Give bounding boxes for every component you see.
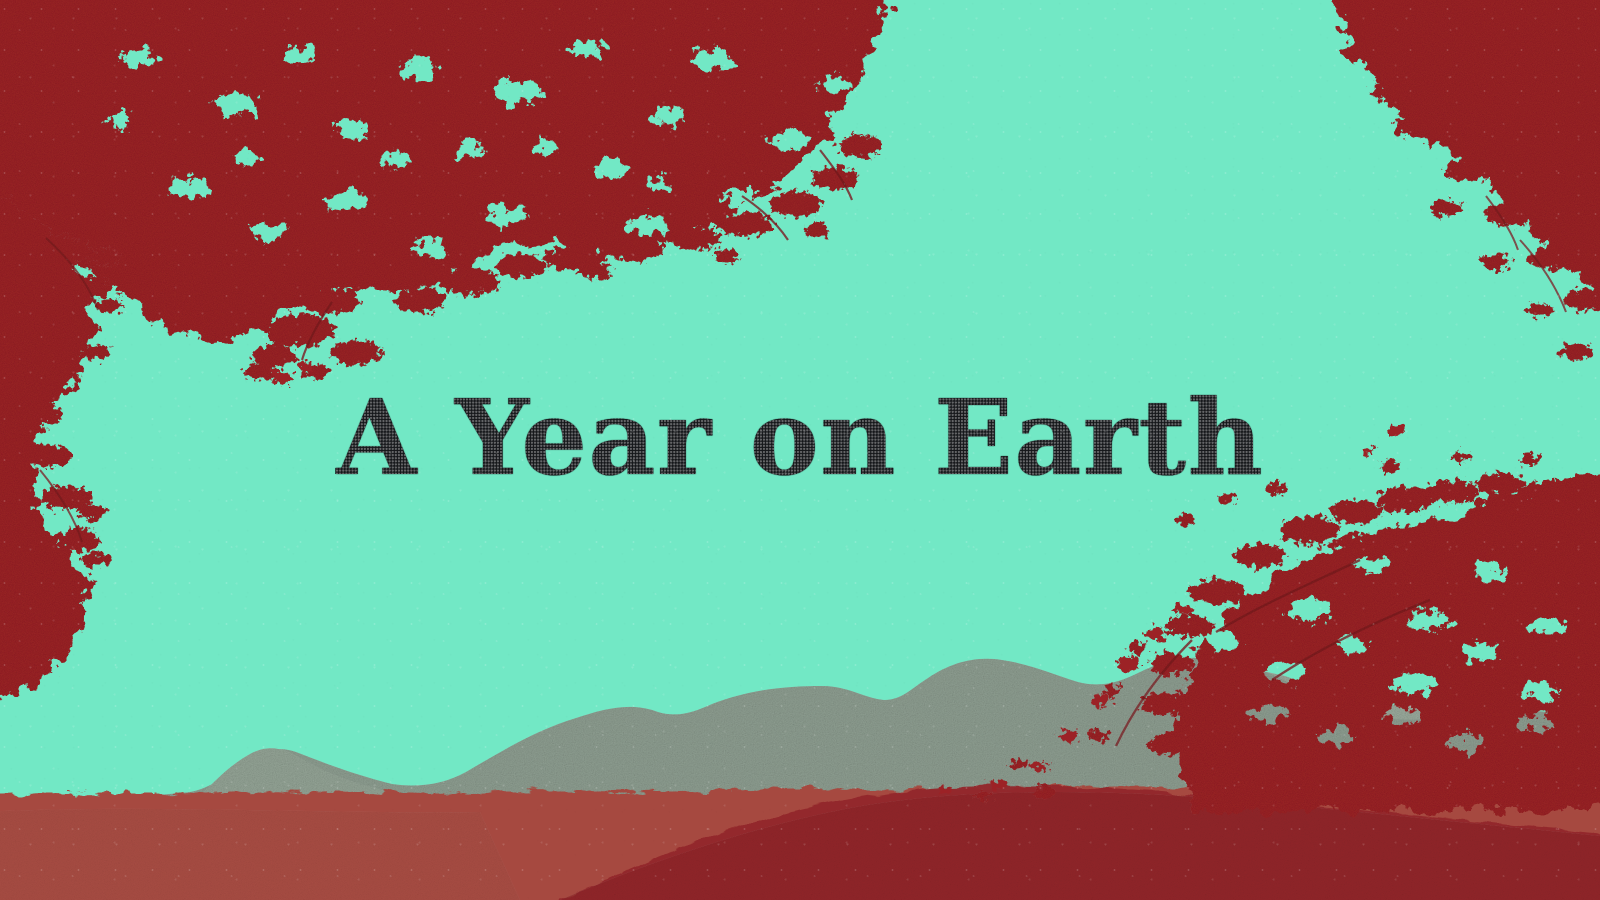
tree-canopy-top-right [1330, 0, 1600, 360]
tree-canopy-top-left [0, 0, 900, 380]
title-card-canvas: A Year on Earth A Year on Earth [0, 0, 1600, 900]
foliage-layer [0, 0, 1600, 900]
tree-canopy-bottom-right [976, 451, 1600, 810]
stray-leaves-right [1362, 425, 1404, 456]
tree-canopy-left-edge [0, 180, 124, 710]
